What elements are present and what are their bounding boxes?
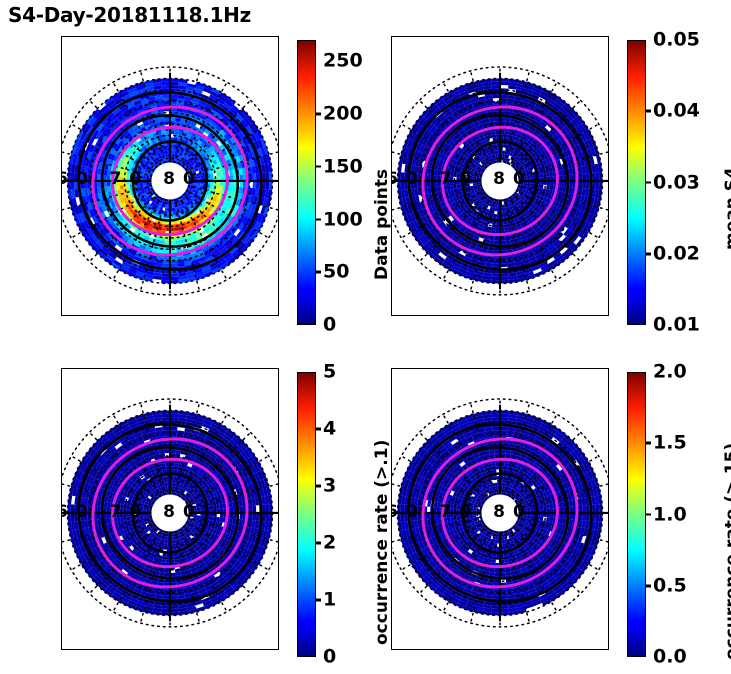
data-bin — [266, 172, 270, 181]
data-bin — [74, 513, 78, 521]
data-bin — [500, 82, 509, 86]
data-bin — [253, 505, 257, 513]
data-bin — [219, 172, 223, 177]
data-bin — [411, 181, 415, 189]
data-bin — [229, 170, 233, 176]
colorbar-title-mean-s4: mean S4 — [722, 167, 731, 250]
data-bin — [81, 505, 85, 513]
data-bin — [74, 181, 78, 189]
data-bin — [492, 264, 500, 268]
data-bin — [404, 181, 408, 189]
data-bin — [450, 172, 454, 177]
colorbar-tick: 200 — [316, 104, 363, 123]
data-bin — [216, 172, 220, 177]
data-bin — [170, 596, 178, 600]
data-bin — [492, 85, 500, 89]
tick-dash-icon — [316, 165, 321, 168]
colorbar-tick: 0.04 — [646, 102, 700, 121]
data-bin — [457, 173, 461, 177]
data-bin — [84, 173, 88, 181]
data-bin — [120, 172, 124, 177]
data-bin — [266, 504, 270, 513]
data-bin — [162, 264, 170, 268]
pole-hole — [151, 162, 188, 199]
data-bin — [162, 605, 170, 609]
data-bin — [74, 505, 78, 513]
data-bin — [592, 173, 596, 181]
data-bin — [170, 85, 178, 89]
data-bin — [162, 417, 170, 421]
data-bin — [210, 184, 214, 188]
figure-title: S4-Day-20181118.1Hz — [8, 3, 251, 27]
colorbar-tick: 50 — [316, 263, 349, 282]
data-bin — [71, 172, 75, 181]
colorbar-tick-label: 100 — [323, 210, 363, 229]
data-bin — [266, 181, 270, 190]
data-bin — [492, 273, 500, 277]
data-bin — [414, 173, 418, 181]
data-bin — [500, 277, 509, 281]
colorbar-title-data-points: Data points — [372, 169, 392, 280]
data-bin — [540, 184, 544, 188]
data-bin — [170, 417, 178, 421]
data-bin — [549, 172, 553, 177]
data-bin — [162, 596, 170, 600]
data-bin — [262, 173, 266, 181]
data-bin — [401, 181, 405, 190]
data-bin — [504, 227, 509, 231]
data-bin — [74, 173, 78, 181]
data-bin — [586, 173, 590, 181]
data-bin — [491, 227, 496, 231]
colorbar-tick-label: 0 — [323, 316, 336, 335]
data-bin — [414, 181, 418, 189]
data-bin — [170, 605, 178, 609]
data-bin — [546, 172, 550, 177]
data-bin — [457, 184, 461, 188]
data-bin — [71, 513, 75, 522]
data-bin — [71, 181, 75, 190]
panel-occurrence-rate-01: 60 70 80 — [61, 368, 279, 650]
data-bin — [170, 414, 179, 418]
colorbar-tick: 0.03 — [646, 173, 700, 192]
data-bin — [162, 427, 170, 431]
data-bin — [117, 185, 121, 190]
data-bin — [596, 172, 600, 181]
colorbar-tick-label: 200 — [323, 104, 363, 123]
data-bin — [540, 173, 544, 177]
data-bin — [170, 264, 178, 268]
colorbar-mean-s4 — [627, 40, 646, 325]
figure-root: S4-Day-20181118.1Hz 60 70 80 05010015020… — [0, 0, 731, 674]
colorbar-tick: 250 — [316, 52, 363, 71]
pole-hole — [481, 162, 518, 199]
data-bin — [262, 505, 266, 513]
data-bin — [500, 273, 508, 277]
data-bin — [161, 277, 170, 281]
tick-dash-icon — [316, 218, 321, 221]
data-bin — [253, 173, 257, 181]
data-bin — [503, 211, 506, 215]
tick-dash-icon — [646, 110, 651, 113]
data-bin — [256, 173, 260, 181]
data-bin — [174, 227, 179, 231]
data-bin — [450, 185, 454, 190]
data-bin — [161, 82, 170, 86]
data-bin — [81, 181, 85, 189]
data-bin — [161, 227, 166, 231]
data-bin — [466, 184, 470, 187]
data-bin — [546, 185, 550, 190]
data-bin — [262, 513, 266, 521]
data-bin — [200, 175, 204, 178]
data-bin — [170, 273, 178, 277]
data-bin — [170, 609, 179, 613]
data-bin — [161, 131, 166, 135]
data-bin — [210, 173, 214, 177]
colorbar-tick-label: 0.05 — [653, 31, 700, 50]
tick-dash-icon — [646, 252, 651, 255]
data-bin — [253, 513, 257, 521]
data-bin — [120, 185, 124, 190]
data-bin — [500, 264, 508, 268]
colorbar-tick-label: 0.03 — [653, 173, 700, 192]
data-bin — [174, 131, 179, 135]
panel-mean-s4: 60 70 80 — [391, 36, 609, 316]
data-bin — [127, 173, 131, 177]
data-bin — [170, 277, 179, 281]
colorbar-tick: 100 — [316, 210, 363, 229]
data-bin — [583, 181, 587, 189]
data-bin — [492, 95, 500, 99]
colorbar-tick: 0.05 — [646, 31, 700, 50]
data-bin — [170, 82, 179, 86]
data-bin — [117, 172, 121, 177]
data-bin — [504, 131, 509, 135]
data-bin — [170, 427, 178, 431]
data-bin — [219, 185, 223, 190]
data-bin — [500, 95, 508, 99]
data-bin — [262, 181, 266, 189]
data-bin — [447, 172, 451, 177]
data-bin — [162, 95, 170, 99]
colorbar-tick: 150 — [316, 157, 363, 176]
data-bin — [165, 208, 168, 212]
colorbar-tick-label: 0.01 — [653, 316, 700, 335]
data-bin — [592, 181, 596, 189]
data-bin — [586, 181, 590, 189]
data-bin — [173, 211, 176, 215]
data-bin — [84, 513, 88, 521]
polar-plot-mean-s4 — [392, 37, 608, 315]
data-bin — [136, 175, 140, 178]
data-bin — [162, 273, 170, 277]
panel-data-points: 60 70 80 — [61, 36, 279, 316]
colorbar-tick-label: 0.04 — [653, 102, 700, 121]
data-bin — [401, 172, 405, 181]
data-bin — [256, 513, 260, 521]
tick-dash-icon — [316, 113, 321, 116]
colorbar-tick-label: 150 — [323, 157, 363, 176]
data-bin — [530, 175, 534, 178]
polar-plot-data-points — [62, 37, 278, 315]
data-bin — [84, 181, 88, 189]
tick-dash-icon — [316, 271, 321, 274]
data-bin — [491, 277, 500, 281]
colorbar-tick: 0.02 — [646, 244, 700, 263]
data-bin — [596, 181, 600, 190]
data-bin — [161, 414, 170, 418]
data-bin — [81, 513, 85, 521]
data-bin — [549, 185, 553, 190]
data-bin — [71, 504, 75, 513]
data-bin — [253, 181, 257, 189]
data-bin — [491, 131, 496, 135]
data-bin — [81, 173, 85, 181]
data-bin — [136, 184, 140, 187]
data-bin — [162, 85, 170, 89]
data-bin — [170, 95, 178, 99]
data-bin — [491, 82, 500, 86]
colorbar-tick-label: 250 — [323, 52, 363, 71]
data-bin — [583, 173, 587, 181]
data-bin — [84, 505, 88, 513]
data-bin — [161, 609, 170, 613]
data-bin — [127, 184, 131, 188]
colorbar-tick-label: 50 — [323, 263, 349, 282]
data-bin — [411, 173, 415, 181]
colorbar-data-points — [297, 40, 316, 325]
data-bin — [447, 185, 451, 190]
polar-plot-occurrence-01 — [62, 369, 278, 649]
data-bin — [266, 513, 270, 522]
tick-dash-icon — [646, 181, 651, 184]
data-bin — [256, 181, 260, 189]
data-bin — [404, 173, 408, 181]
colorbar-tick: 0 — [316, 316, 336, 335]
colorbar-tick: 0.01 — [646, 316, 700, 335]
data-bin — [216, 185, 220, 190]
colorbar-tick-label: 0.02 — [653, 244, 700, 263]
